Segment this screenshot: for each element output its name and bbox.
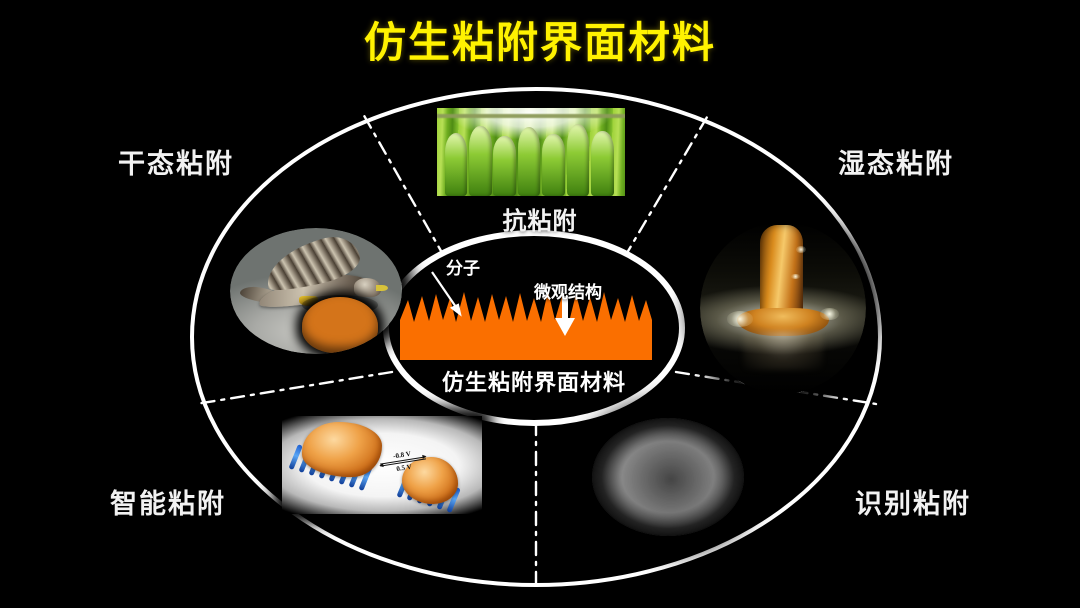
gecko-toepad-lamellae	[302, 297, 378, 352]
spread-cell	[302, 422, 382, 477]
wet-surface-reflection	[743, 332, 823, 370]
falcon-and-gecko-toepad-photo	[230, 228, 402, 354]
sector-label-smart-adhesion: 智能粘附	[110, 482, 226, 521]
kelp-frond	[518, 127, 541, 196]
sem-cell-micrograph-photo	[592, 418, 744, 536]
hub-caption: 仿生粘附界面材料	[386, 365, 682, 397]
sector-label-wet-adhesion: 湿态粘附	[838, 142, 954, 181]
kelp-frond	[493, 136, 516, 196]
center-hub: 分子 微观结构 仿生粘附界面材料	[386, 234, 682, 422]
sector-label-recognition-adhesion: 识别粘附	[855, 482, 971, 521]
kelp-seaweed-photo	[437, 108, 625, 196]
divider-smart-dry	[196, 372, 392, 404]
bioadhesive-material-block	[400, 291, 652, 360]
sector-label-anti-adhesion: 抗粘附	[0, 201, 1080, 236]
mussel-foot-on-wet-surface-photo	[700, 222, 866, 394]
kelp-frond	[567, 124, 590, 196]
kelp-frond	[469, 126, 492, 196]
kelp-frond	[542, 134, 565, 196]
kelp-frond	[445, 133, 468, 196]
specular-glint	[727, 311, 754, 326]
page-title: 仿生粘附界面材料	[0, 18, 1080, 68]
infographic-canvas: 仿生粘附界面材料	[0, 0, 1080, 608]
molecule-annotation-label: 分子	[446, 254, 480, 279]
sem-vignette	[592, 418, 744, 536]
electro-switchable-cell-adhesion-photo: -0.8 V 0.5 V	[282, 416, 482, 514]
microstructure-annotation-label: 微观结构	[534, 278, 602, 303]
specular-glint	[791, 274, 799, 279]
sector-label-dry-adhesion: 干态粘附	[118, 142, 234, 181]
kelp-frond	[591, 131, 614, 196]
